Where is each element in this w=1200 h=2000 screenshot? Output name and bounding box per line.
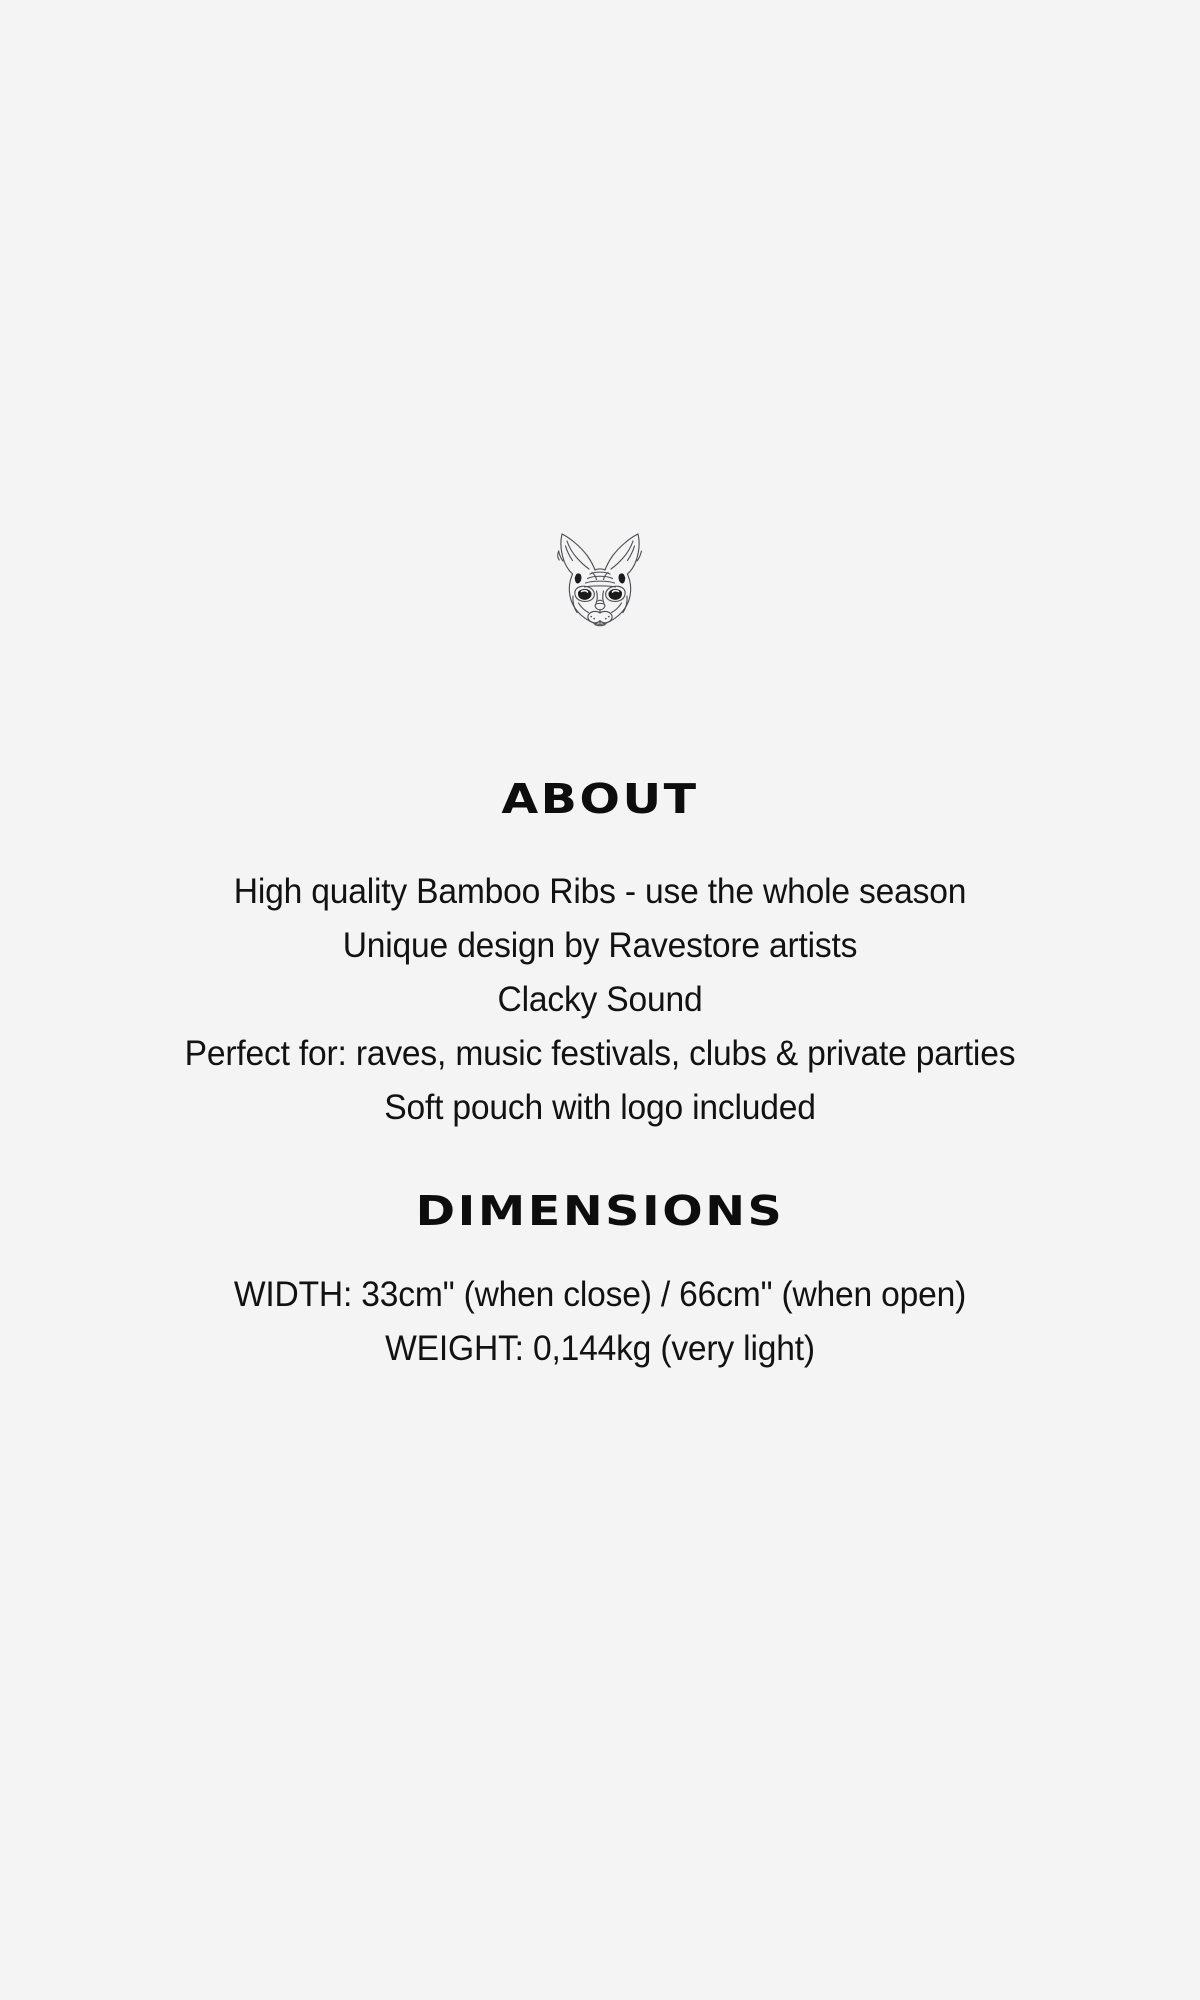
list-item: Unique design by Ravestore artists (24, 919, 1176, 973)
spacer-dimensions-body (0, 1233, 1200, 1268)
list-item: WEIGHT: 0,144kg (very light) (24, 1322, 1176, 1376)
list-item: High quality Bamboo Ribs - use the whole… (24, 865, 1176, 919)
list-item: Clacky Sound (24, 973, 1176, 1027)
dimensions-section-heading: DIMENSIONS (0, 1190, 1200, 1233)
sphynx-cat-head-icon (554, 524, 646, 630)
about-feature-list: High quality Bamboo Ribs - use the whole… (0, 865, 1200, 1135)
brand-logo (0, 524, 1200, 630)
spacer-dimensions (0, 1135, 1200, 1190)
list-item: Perfect for: raves, music festivals, clu… (24, 1027, 1176, 1081)
dimensions-list: WIDTH: 33cm" (when close) / 66cm" (when … (0, 1268, 1200, 1376)
product-description-page: ABOUT High quality Bamboo Ribs - use the… (0, 0, 1200, 2000)
spacer-about (0, 821, 1200, 865)
list-item: WIDTH: 33cm" (when close) / 66cm" (when … (24, 1268, 1176, 1322)
product-info-content: ABOUT High quality Bamboo Ribs - use the… (0, 760, 1200, 1376)
list-item: Soft pouch with logo included (24, 1081, 1176, 1135)
about-section-heading: ABOUT (0, 760, 1200, 821)
